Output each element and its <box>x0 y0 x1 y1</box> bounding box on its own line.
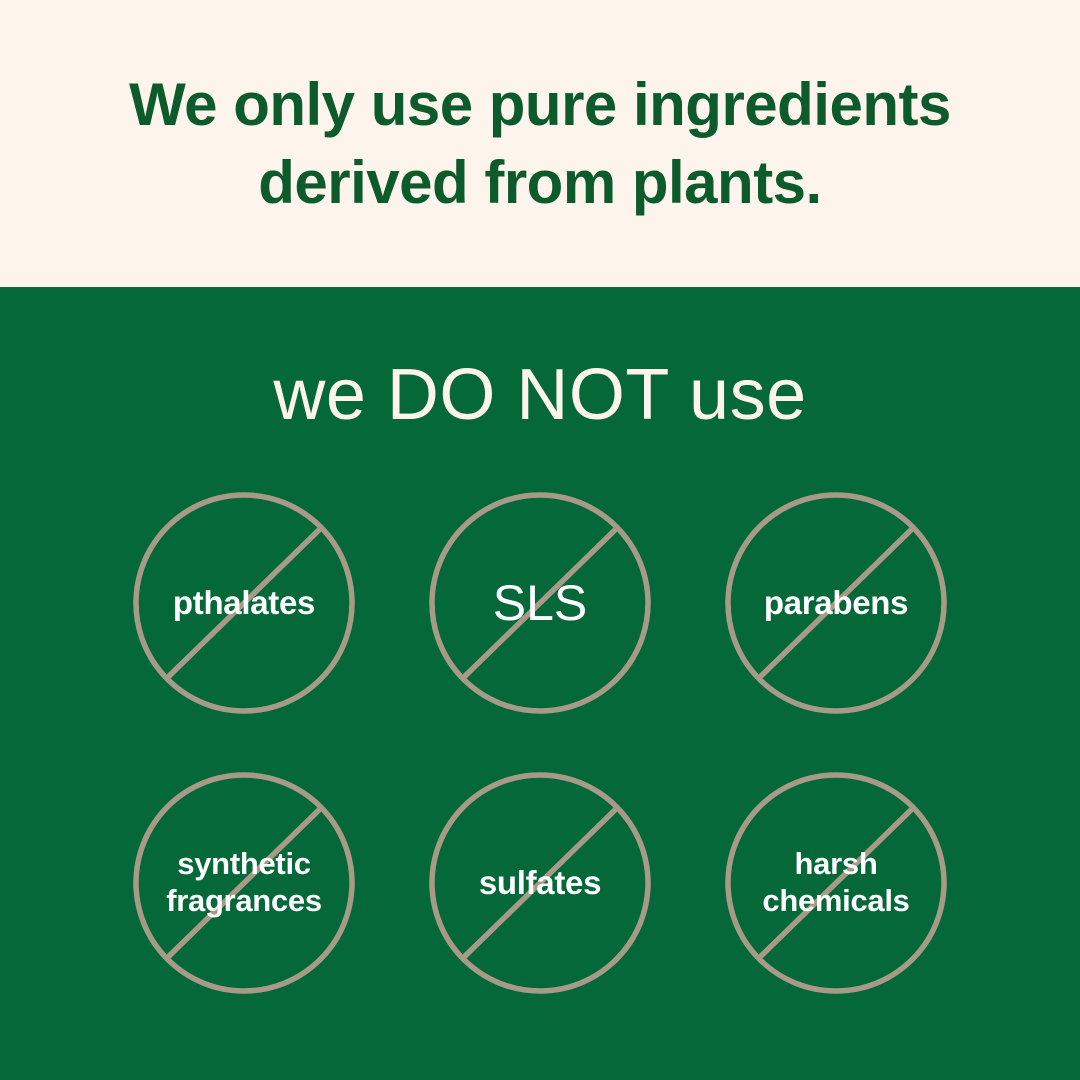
section-heading: we DO NOT use <box>0 359 1080 431</box>
badge-row-2: synthetic fragrances sulfates harsh chem… <box>0 772 1080 994</box>
badge-synthetic-fragrances: synthetic fragrances <box>133 772 355 994</box>
headline-line-2: derived from plants. <box>129 144 951 222</box>
badge-pthalates: pthalates <box>133 492 355 714</box>
badge-parabens: parabens <box>725 492 947 714</box>
header-band: We only use pure ingredients derived fro… <box>0 0 1080 287</box>
badge-label: SLS <box>429 492 651 714</box>
do-not-use-section: we DO NOT use pthalates SLS <box>0 287 1080 1080</box>
badge-row-1: pthalates SLS parabens <box>0 492 1080 714</box>
excluded-ingredients-grid: pthalates SLS parabens <box>0 492 1080 994</box>
page-title: We only use pure ingredients derived fro… <box>69 66 1011 222</box>
badge-label: parabens <box>725 492 947 714</box>
promo-graphic: We only use pure ingredients derived fro… <box>0 0 1080 1080</box>
badge-harsh-chemicals: harsh chemicals <box>725 772 947 994</box>
headline-line-1: We only use pure ingredients <box>129 66 951 144</box>
badge-sls: SLS <box>429 492 651 714</box>
badge-label: harsh chemicals <box>725 772 947 994</box>
badge-label: synthetic fragrances <box>133 772 355 994</box>
badge-label: sulfates <box>429 772 651 994</box>
badge-sulfates: sulfates <box>429 772 651 994</box>
badge-label: pthalates <box>133 492 355 714</box>
